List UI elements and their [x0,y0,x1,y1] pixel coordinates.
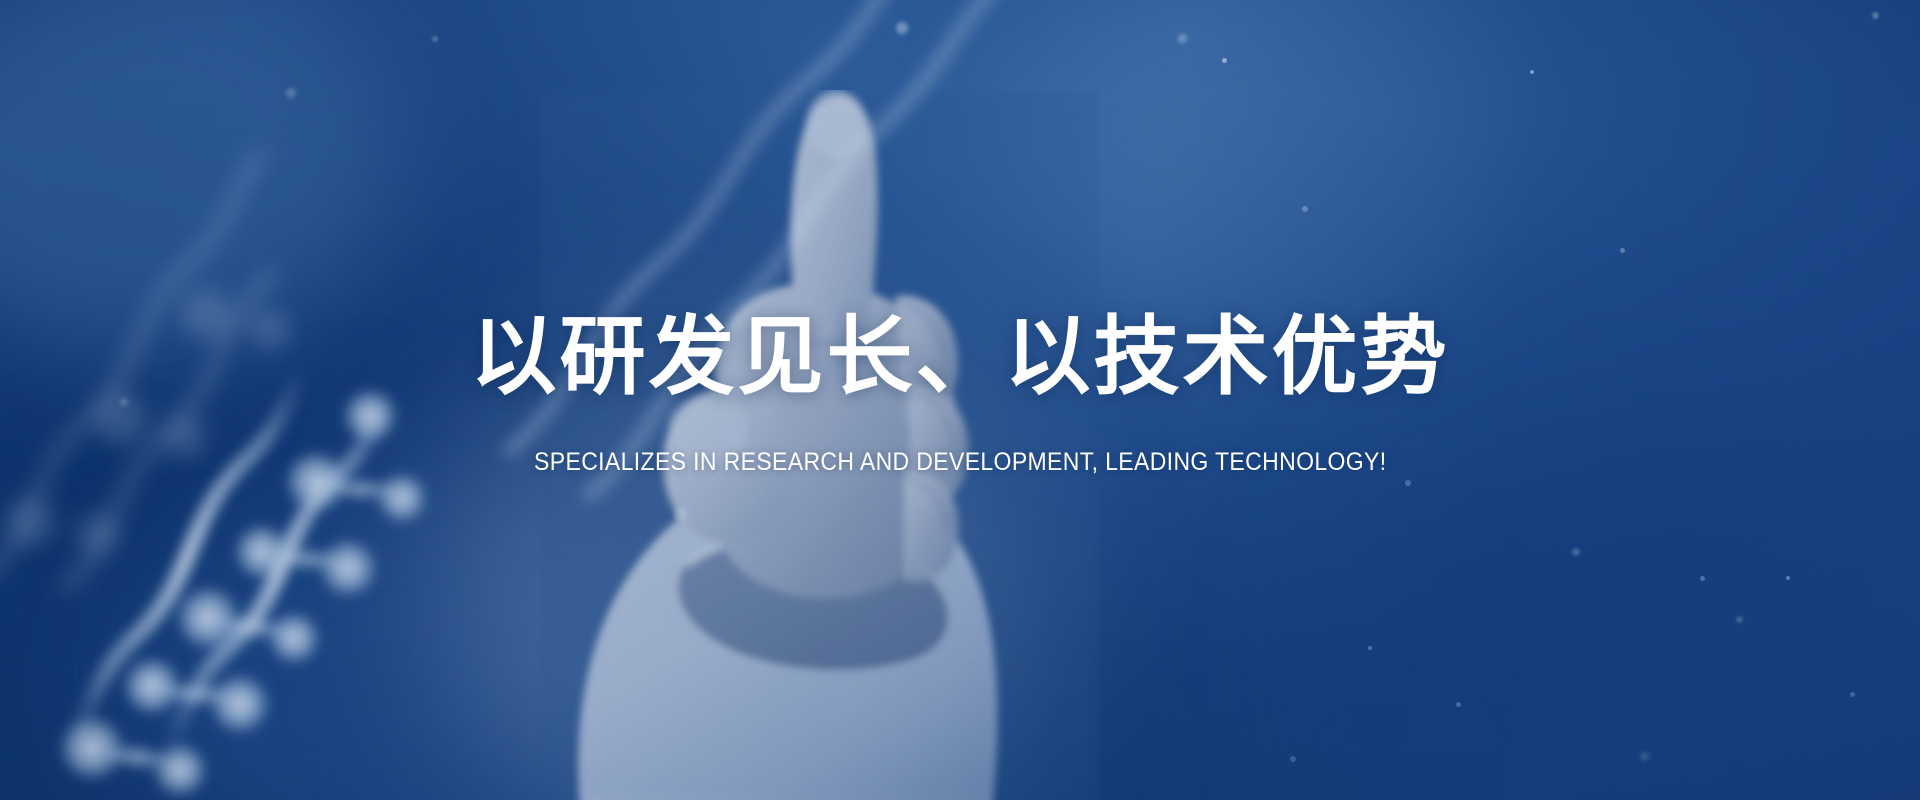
hero-banner: 以研发见长、以技术优势 SPECIALIZES IN RESEARCH AND … [0,0,1920,800]
page-title: 以研发见长、以技术优势 [471,309,1450,405]
page-subtitle: SPECIALIZES IN RESEARCH AND DEVELOPMENT,… [534,448,1386,477]
hero-text-block: 以研发见长、以技术优势 SPECIALIZES IN RESEARCH AND … [0,0,1920,800]
